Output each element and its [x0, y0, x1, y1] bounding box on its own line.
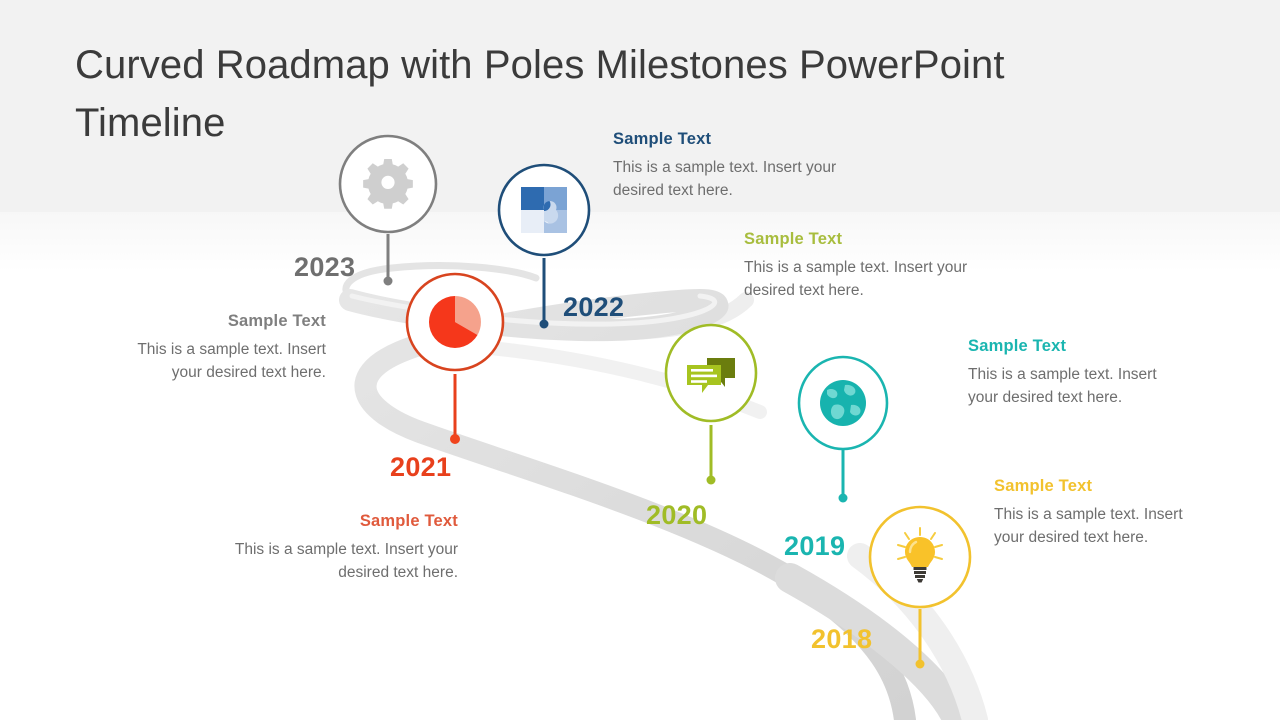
- text-block-heading: Sample Text: [196, 512, 458, 531]
- year-label-2018: 2018: [811, 624, 872, 655]
- milestone-marker-2019[interactable]: [793, 355, 893, 515]
- milestone-marker-2018[interactable]: [868, 505, 972, 685]
- text-block-heading: Sample Text: [744, 230, 994, 249]
- slide-canvas: Curved Roadmap with Poles Milestones Pow…: [0, 0, 1280, 720]
- milestone-marker-2021[interactable]: [405, 272, 505, 462]
- year-label-2022: 2022: [563, 292, 624, 323]
- text-block-body: This is a sample text. Insert your desir…: [994, 503, 1194, 549]
- year-label-2020: 2020: [646, 500, 707, 531]
- text-block-heading: Sample Text: [110, 312, 326, 331]
- text-block-2020: Sample Text This is a sample text. Inser…: [744, 230, 994, 302]
- globe-icon: [820, 380, 866, 426]
- text-block-body: This is a sample text. Insert your desir…: [196, 538, 458, 584]
- year-label-2023: 2023: [294, 252, 355, 283]
- text-block-heading: Sample Text: [994, 477, 1194, 496]
- text-block-body: This is a sample text. Insert your desir…: [968, 363, 1168, 409]
- puzzle-icon: [521, 187, 567, 233]
- year-label-2019: 2019: [784, 531, 845, 562]
- gear-icon: [363, 159, 413, 209]
- text-block-2019: Sample Text This is a sample text. Inser…: [968, 337, 1168, 409]
- text-block-body: This is a sample text. Insert your desir…: [613, 156, 855, 202]
- text-block-2018: Sample Text This is a sample text. Inser…: [994, 477, 1194, 549]
- year-label-2021: 2021: [390, 452, 451, 483]
- text-block-heading: Sample Text: [968, 337, 1168, 356]
- text-block-2021: Sample Text This is a sample text. Inser…: [196, 512, 458, 584]
- text-block-2023: Sample Text This is a sample text. Inser…: [110, 312, 326, 384]
- milestone-marker-2020[interactable]: [659, 325, 763, 495]
- text-block-2022: Sample Text This is a sample text. Inser…: [613, 130, 855, 202]
- text-block-heading: Sample Text: [613, 130, 855, 149]
- text-block-body: This is a sample text. Insert your desir…: [744, 256, 994, 302]
- pie-chart-icon: [429, 296, 481, 348]
- text-block-body: This is a sample text. Insert your desir…: [110, 338, 326, 384]
